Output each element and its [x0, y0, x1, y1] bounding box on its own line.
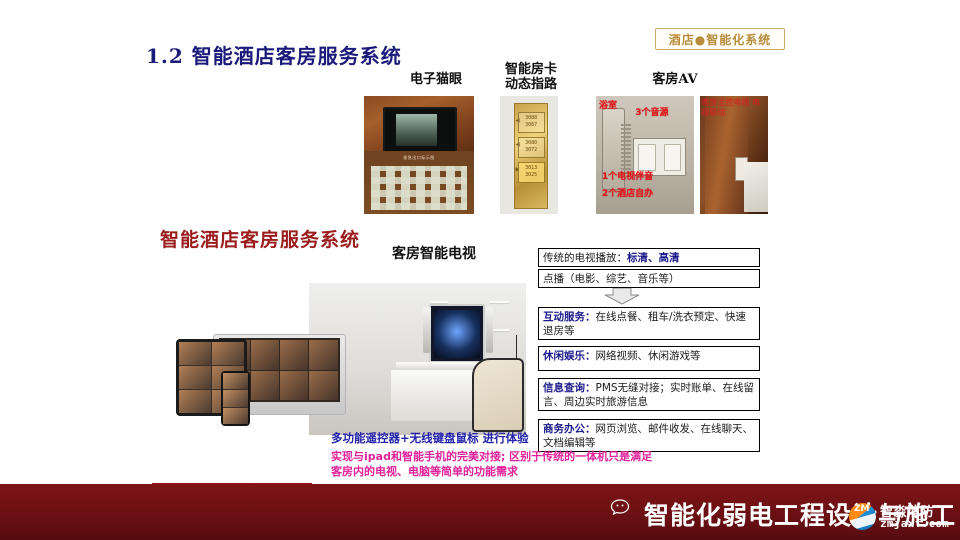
caption-ipad-integration: 实现与ipad和智能手机的完美对接; 区别于传统的一体机只是满足客房内的电视、电…	[331, 449, 661, 479]
speaker-left	[423, 307, 431, 353]
sign-row: 3013 3025	[518, 162, 545, 183]
feature-label: 休闲娱乐：	[543, 350, 596, 362]
bottom-banner: 智能化弱电工程设计与施工	[0, 484, 960, 540]
wechat-icon	[610, 498, 636, 518]
device-group	[176, 332, 344, 426]
feature-label: 商务办公：	[543, 423, 596, 435]
slide-canvas: 酒店●智能化系统 1.2 智能酒店客房服务系统 电子猫眼 智能房卡 动态指路 客…	[0, 0, 960, 540]
floorplan-title: 紧急出口标示图	[364, 155, 474, 161]
feature-box-interactive-service: 互动服务：在线点餐、租车/洗衣预定、快速退房等	[538, 307, 760, 340]
direction-sign-board: ◀ ◀ ▶ 3088 3087 3080 3072 3013 3025	[514, 103, 548, 209]
feature-label: 传统的电视播放：	[543, 252, 627, 264]
towel	[744, 162, 768, 212]
caption-smart-room-card: 智能房卡 动态指路	[492, 62, 570, 92]
feature-label: 互动服务：	[543, 311, 596, 323]
caption-guestroom-av: 客房AV	[640, 72, 710, 87]
shelf	[431, 301, 448, 303]
feature-highlight: 标清、高清	[627, 252, 680, 264]
armchair	[472, 358, 524, 432]
brand-logo: ZM 智淼消防 zmjaxf.com	[849, 500, 953, 534]
caption-electronic-peephole: 电子猫眼	[396, 72, 476, 87]
page-title: 1.2 智能酒店客房服务系统	[146, 40, 402, 69]
annotation-bathroom: 浴室	[599, 98, 617, 111]
annotation-hotel-own: 2个酒店自办	[602, 186, 653, 199]
annotation-door-overlay: 客房主控电视 电视联动	[701, 98, 768, 118]
feature-body: 点播（电影、综艺、音乐等）	[543, 273, 680, 285]
feature-body: 网络视频、休闲游戏等	[596, 350, 701, 362]
floorplan-board: 紧急出口标示图	[364, 151, 474, 214]
logo-mark-text: ZM	[854, 504, 869, 514]
sign-row: 3088 3087	[518, 112, 545, 133]
annotation-audio-sources: 3个音源	[635, 105, 668, 118]
peephole-screen	[383, 107, 457, 155]
cabinet	[391, 370, 478, 422]
section-title-text: 智能酒店客房服务系统	[192, 44, 402, 68]
section2-title: 智能酒店客房服务系统	[160, 225, 360, 252]
sign-row: 3080 3072	[518, 137, 545, 158]
feature-box-business-office: 商务办公：网页浏览、邮件收发、在线聊天、文档编辑等	[538, 419, 760, 452]
photo-guestroom-av-panel: 浴室 3个音源 1个电视伴音 2个酒店自办	[596, 96, 694, 214]
caption-remote-experience: 多功能遥控器+无线键盘鼠标 进行体验	[331, 430, 529, 446]
section-number: 1.2	[146, 44, 184, 68]
header-badge: 酒店●智能化系统	[655, 28, 785, 50]
section2-subtitle: 客房智能电视	[392, 243, 476, 263]
photo-smart-room-card-sign: ◀ ◀ ▶ 3088 3087 3080 3072 3013 3025	[500, 96, 558, 214]
floorplan-graphic	[371, 166, 468, 210]
photo-smart-tv-living-room	[176, 283, 526, 435]
photo-electronic-peephole: 紧急出口标示图	[364, 96, 474, 214]
annotation-tv-audio: 1个电视伴音	[602, 169, 653, 182]
shelf	[489, 301, 509, 303]
smartphone	[221, 371, 250, 426]
feature-label: 信息查询：	[543, 382, 596, 394]
phone-cord	[621, 122, 631, 174]
down-arrow-icon	[604, 288, 640, 305]
feature-box-info-query: 信息查询：PMS无缝对接；实时账单、在线留言、周边实时旅游信息	[538, 378, 760, 411]
logo-website: zmjaxf.com	[880, 517, 949, 530]
smartphone-screen	[223, 373, 248, 424]
feature-box-entertainment: 休闲娱乐：网络视频、休闲游戏等	[538, 346, 760, 371]
photo-bathroom-door: 客房主控电视 电视联动	[700, 96, 768, 214]
speaker-right	[486, 307, 494, 353]
feature-box-vod: 点播（电影、综艺、音乐等）	[538, 269, 760, 288]
wall-television	[429, 304, 485, 363]
feature-box-traditional-tv: 传统的电视播放：标清、高清	[538, 248, 760, 267]
